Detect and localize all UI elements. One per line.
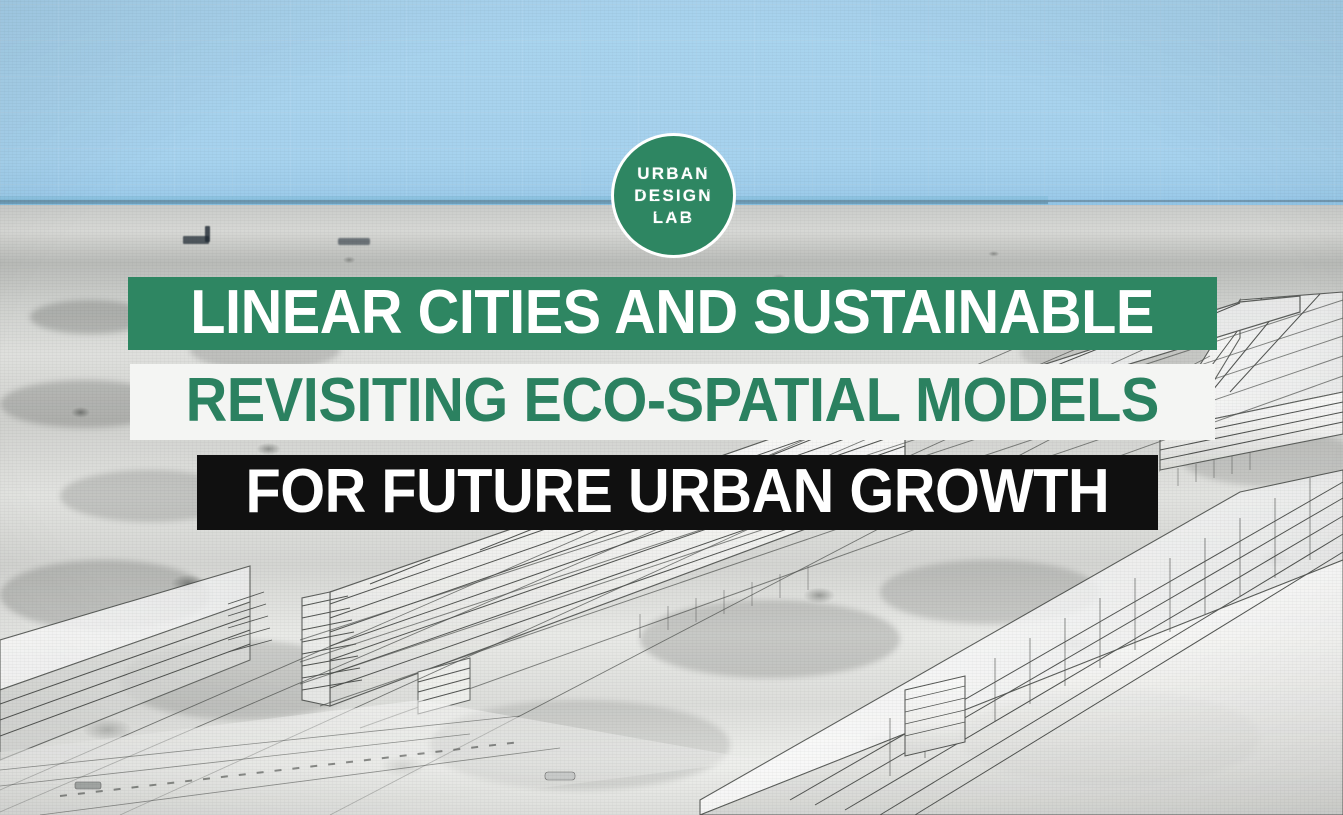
logo-line-design: DESIGN [634,187,712,204]
title-band-line-3: FOR FUTURE URBAN GROWTH [197,455,1158,530]
title-band-line-2: REVISITING ECO-SPATIAL MODELS [130,364,1215,440]
title-text-line-3: FOR FUTURE URBAN GROWTH [246,456,1110,527]
logo-line-lab: LAB [653,209,695,226]
banner-hero: URBAN DESIGN LAB LINEAR CITIES AND SUSTA… [0,0,1343,815]
title-text-line-1: LINEAR CITIES AND SUSTAINABLE [191,277,1155,348]
logo-line-urban: URBAN [637,165,709,182]
title-text-line-2: REVISITING ECO-SPATIAL MODELS [186,365,1159,436]
urban-design-lab-logo[interactable]: URBAN DESIGN LAB [611,133,736,258]
title-band-line-1: LINEAR CITIES AND SUSTAINABLE [128,277,1217,350]
